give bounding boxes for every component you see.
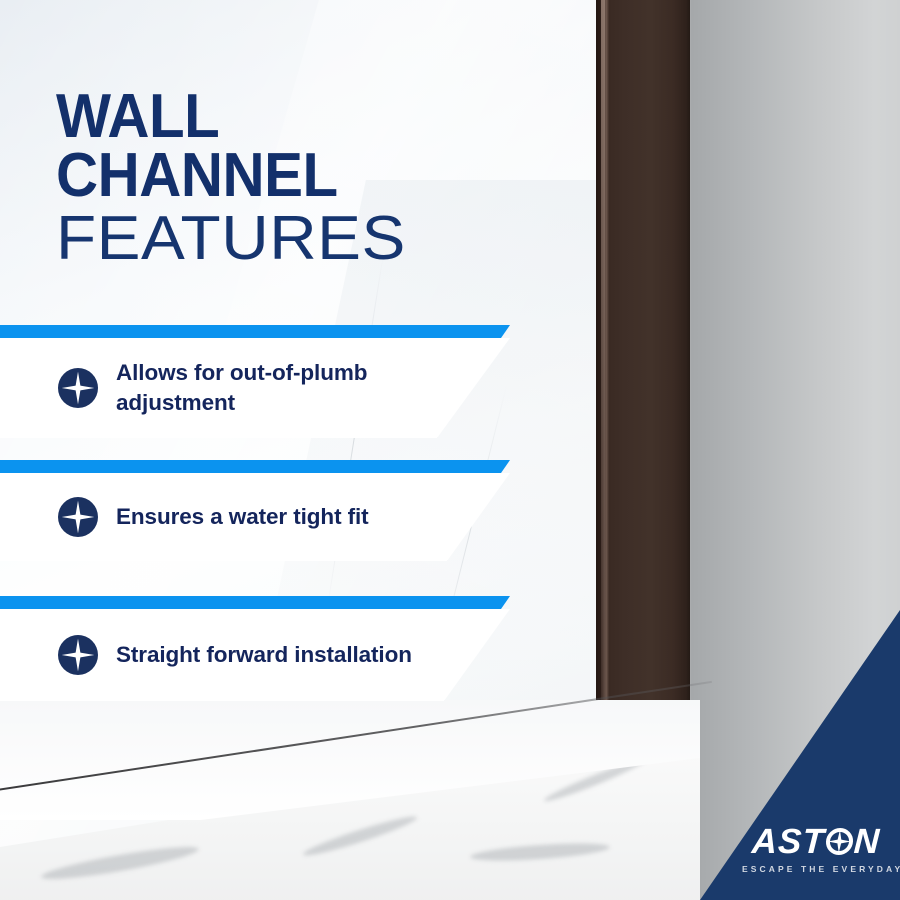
feature-card-1-body: Allows for out-of-plumb adjustment bbox=[0, 338, 510, 438]
feature-card-3: Straight forward installation bbox=[0, 596, 510, 701]
feature-card-1-accent-bar bbox=[0, 325, 510, 338]
four-point-star-icon bbox=[58, 497, 98, 537]
aston-wordmark: AST N bbox=[741, 824, 891, 859]
wall-channel-post-highlight bbox=[601, 0, 605, 750]
four-point-star-icon bbox=[58, 368, 98, 408]
headline-line-1: WALL bbox=[56, 88, 366, 147]
feature-card-2-body: Ensures a water tight fit bbox=[0, 473, 510, 561]
feature-card-3-label: Straight forward installation bbox=[116, 640, 412, 670]
feature-card-1-label: Allows for out-of-plumb adjustment bbox=[116, 358, 446, 417]
headline-line-3: FEATURES bbox=[56, 206, 406, 273]
feature-card-1: Allows for out-of-plumb adjustment bbox=[0, 325, 510, 438]
headline-line-2: CHANNEL bbox=[56, 147, 366, 206]
aston-wordmark-part-2: N bbox=[853, 824, 881, 859]
wall-channel-post bbox=[596, 0, 690, 752]
aston-star-o-icon bbox=[825, 828, 853, 855]
page-title: WALL CHANNEL FEATURES bbox=[56, 88, 386, 273]
feature-card-2-label: Ensures a water tight fit bbox=[116, 502, 369, 532]
feature-card-2: Ensures a water tight fit bbox=[0, 460, 510, 561]
aston-logo: AST N ESCAPE THE EVERYDAY bbox=[742, 824, 890, 874]
aston-wordmark-part-1: AST bbox=[751, 824, 826, 859]
feature-card-2-accent-bar bbox=[0, 460, 510, 473]
wall-channel-features-graphic: WALL CHANNEL FEATURES Allows for out-of-… bbox=[0, 0, 900, 900]
four-point-star-icon bbox=[58, 635, 98, 675]
aston-tagline: ESCAPE THE EVERYDAY bbox=[742, 864, 890, 874]
feature-card-3-body: Straight forward installation bbox=[0, 609, 510, 701]
feature-card-3-accent-bar bbox=[0, 596, 510, 609]
